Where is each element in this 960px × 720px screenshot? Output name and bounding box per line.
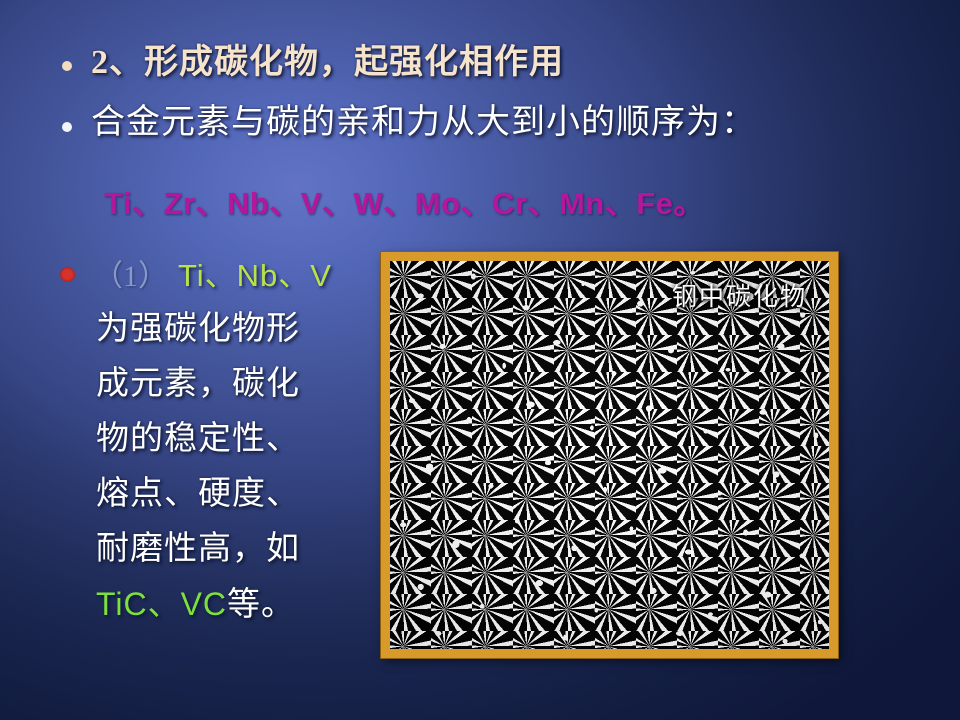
paragraph-line-final: TiC、VC等。 [96,577,356,633]
heading-text: 2、形成碳化物，起强化相作用 [91,44,564,82]
element-sequence-text: Ti、Zr、Nb、V、W、Mo、Cr、Mn、Fe。 [104,186,705,221]
bullet-dot-red-icon [60,267,75,282]
bullet-dot-icon [62,61,72,71]
paragraph-line: 熔点、硬度、 [96,467,356,522]
carbide-formula-highlight: TiC、VC [96,586,227,622]
element-sequence-row: Ti、Zr、Nb、V、W、Mo、Cr、Mn、Fe。 [104,178,705,223]
sub-item-row: （1） Ti、Nb、V [60,250,332,295]
slide-canvas: 2、形成碳化物，起强化相作用 合金元素与碳的亲和力从大到小的顺序为： Ti、Zr… [0,0,960,720]
figure-caption: 钢中碳化物 [672,277,807,313]
bullet-dot-icon [62,122,72,132]
statement-text: 合金元素与碳的亲和力从大到小的顺序为： [91,104,756,142]
micrograph-tint-overlay [390,261,829,649]
slide-content: 2、形成碳化物，起强化相作用 合金元素与碳的亲和力从大到小的顺序为： Ti、Zr… [0,0,960,720]
paragraph-line: 耐磨性高，如 [96,522,356,577]
micrograph-figure: 钢中碳化物 [381,252,838,658]
sub-item-number: （1） [93,251,168,295]
statement-bullet-row: 合金元素与碳的亲和力从大到小的顺序为： [62,104,756,142]
paragraph-line: 成元素，碳化 [96,357,356,412]
carbide-formula-tail: 等。 [227,587,295,623]
paragraph-line: 物的稳定性、 [96,412,356,467]
heading-bullet-row: 2、形成碳化物，起强化相作用 [62,44,564,82]
paragraph-column: 为强碳化物形 成元素，碳化 物的稳定性、 熔点、硬度、 耐磨性高，如 TiC、V… [96,302,356,633]
paragraph-line: 为强碳化物形 [96,302,356,357]
sub-item-elements: Ti、Nb、V [178,250,332,295]
